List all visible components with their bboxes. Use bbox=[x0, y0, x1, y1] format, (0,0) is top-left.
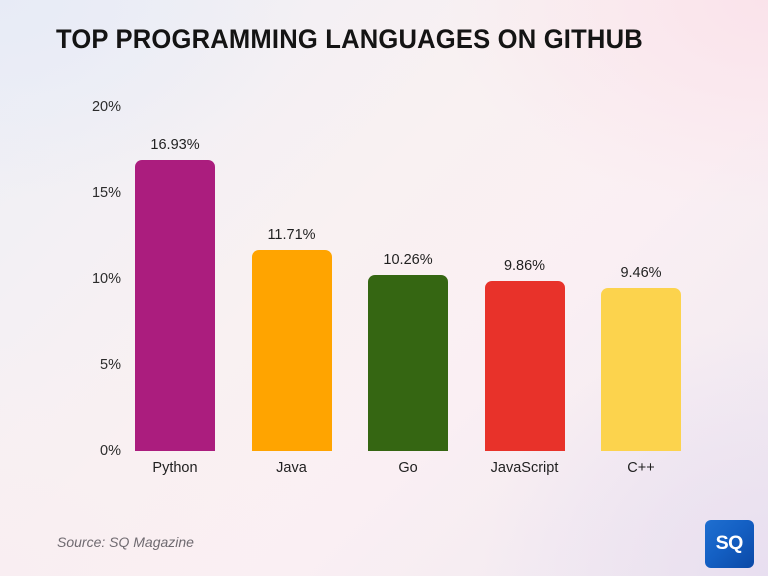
bar-java[interactable] bbox=[252, 250, 332, 451]
x-axis-label-java: Java bbox=[276, 460, 307, 476]
chart-slide: TOP PROGRAMMING LANGUAGES ON GITHUB 20% … bbox=[0, 0, 768, 576]
x-axis-label-javascript: JavaScript bbox=[491, 460, 559, 476]
bar-javascript[interactable] bbox=[485, 281, 565, 451]
bar-value-label: 9.86% bbox=[504, 258, 545, 274]
bar-go[interactable] bbox=[368, 275, 448, 451]
bar-cpp[interactable] bbox=[601, 288, 681, 451]
y-axis-tick-20: 20% bbox=[92, 99, 121, 115]
x-axis-label-go: Go bbox=[398, 460, 417, 476]
y-axis-tick-15: 15% bbox=[92, 185, 121, 201]
bar-group-cpp: 9.46% C++ bbox=[601, 107, 681, 451]
bar-value-label: 10.26% bbox=[383, 252, 432, 268]
plot-area: 20% 15% 10% 5% 0% 16.93% Python 11.71% J… bbox=[135, 107, 681, 451]
source-attribution: Source: SQ Magazine bbox=[57, 534, 194, 550]
bar-group-go: 10.26% Go bbox=[368, 107, 448, 451]
x-axis-label-cpp: C++ bbox=[627, 460, 654, 476]
y-axis-tick-5: 5% bbox=[100, 357, 121, 373]
bar-value-label: 11.71% bbox=[267, 227, 315, 243]
y-axis-tick-10: 10% bbox=[92, 271, 121, 287]
bar-group-java: 11.71% Java bbox=[252, 107, 332, 451]
y-axis-tick-0: 0% bbox=[100, 443, 121, 459]
bar-python[interactable] bbox=[135, 160, 215, 451]
sq-logo: SQ bbox=[705, 520, 754, 568]
sq-logo-text: SQ bbox=[716, 533, 743, 555]
bar-group-javascript: 9.86% JavaScript bbox=[485, 107, 565, 451]
bar-series: 16.93% Python 11.71% Java 10.26% Go 9.86… bbox=[135, 107, 681, 451]
bar-value-label: 9.46% bbox=[620, 265, 661, 281]
bar-value-label: 16.93% bbox=[150, 137, 199, 153]
page-title: TOP PROGRAMMING LANGUAGES ON GITHUB bbox=[56, 24, 712, 55]
bar-group-python: 16.93% Python bbox=[135, 107, 215, 451]
x-axis-label-python: Python bbox=[152, 460, 197, 476]
